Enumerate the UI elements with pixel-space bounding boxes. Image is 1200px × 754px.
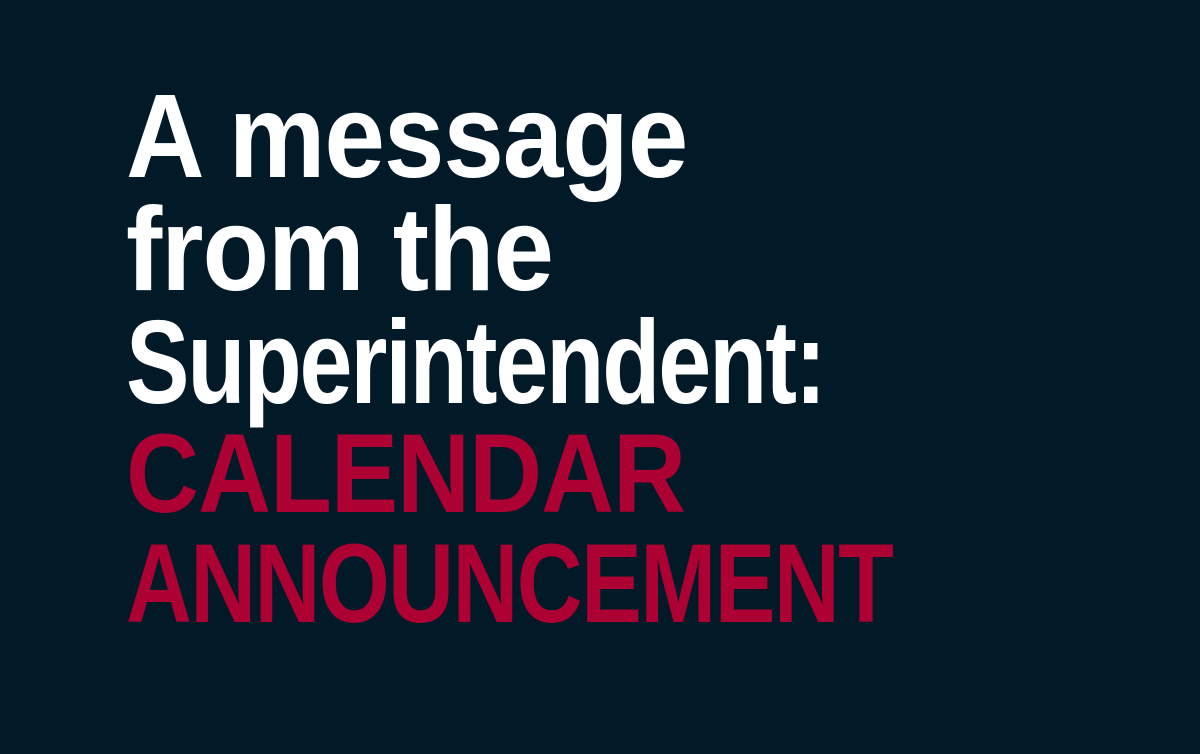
- headline-line-2: from the: [126, 193, 1050, 306]
- headline-accent-line-1: CALENDAR: [126, 419, 1040, 529]
- headline-line-3: Superintendent:: [126, 306, 934, 419]
- headline-accent-line-2: ANNOUNCEMENT: [126, 529, 949, 639]
- headline-block: A message from the Superintendent: CALEN…: [126, 80, 1136, 639]
- headline-line-1: A message: [126, 80, 1050, 193]
- announcement-poster: A message from the Superintendent: CALEN…: [0, 0, 1200, 754]
